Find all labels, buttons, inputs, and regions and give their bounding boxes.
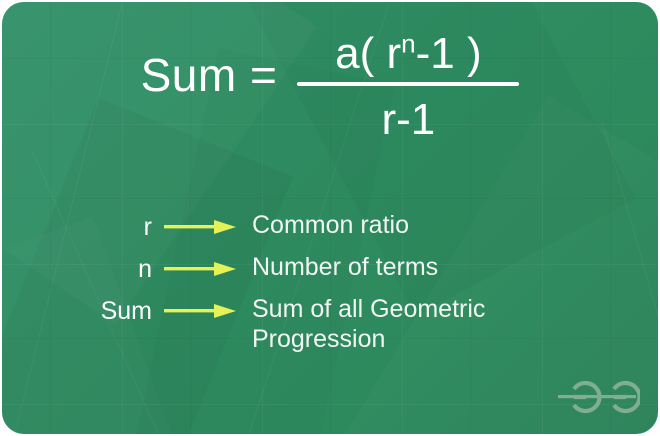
infographic-card: Sum = a( rn-1 ) r-1 r Common ratio n xyxy=(2,2,658,434)
legend-symbol: r xyxy=(62,210,152,244)
legend-description: Sum of all Geometric Progression xyxy=(248,294,485,354)
numerator-prefix: a( r xyxy=(335,29,401,78)
formula-block: Sum = a( rn-1 ) r-1 xyxy=(2,30,658,144)
geeksforgeeks-logo xyxy=(554,370,640,424)
formula-numerator: a( rn-1 ) xyxy=(325,30,491,82)
arrow-right-icon xyxy=(152,252,248,286)
arrow-right-icon xyxy=(152,210,248,244)
formula-left-side: Sum = xyxy=(141,30,278,98)
arrow-right-icon xyxy=(152,294,248,328)
formula-fraction: a( rn-1 ) r-1 xyxy=(297,30,519,144)
formula-denominator: r-1 xyxy=(381,86,435,144)
numerator-exponent: n xyxy=(401,28,415,58)
legend-list: r Common ratio n Number of terms Sum xyxy=(62,210,602,362)
legend-symbol: Sum xyxy=(62,294,152,328)
numerator-suffix: -1 ) xyxy=(416,29,482,78)
legend-row: n Number of terms xyxy=(62,252,602,286)
legend-row: Sum Sum of all Geometric Progression xyxy=(62,294,602,354)
legend-description: Number of terms xyxy=(248,252,438,282)
legend-symbol: n xyxy=(62,252,152,286)
legend-row: r Common ratio xyxy=(62,210,602,244)
legend-description: Common ratio xyxy=(248,210,409,240)
